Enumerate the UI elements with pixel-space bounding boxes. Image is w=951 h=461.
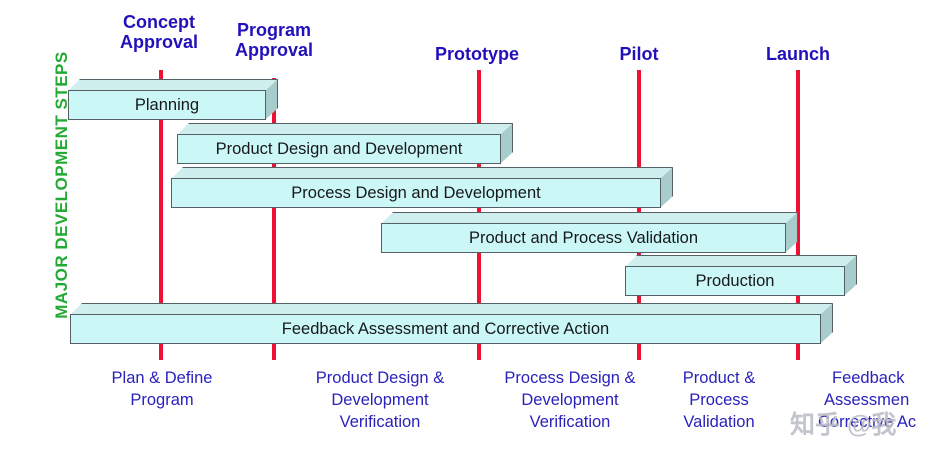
axis-caption-major-development-steps: MAJOR DEVELOPMENT STEPS (52, 25, 72, 345)
bottom-description-product-design-development-verification: Product Design & Development Verificatio… (295, 368, 465, 433)
phase-bar-product-design-and-development[interactable]: Product Design and Development (177, 123, 513, 164)
phase-bar-planning[interactable]: Planning (68, 79, 278, 120)
phase-bar-feedback-assessment-and-corrective-action[interactable]: Feedback Assessment and Corrective Actio… (70, 303, 833, 344)
phase-bar-feedback-label: Feedback Assessment and Corrective Actio… (276, 320, 615, 339)
phase-bar-product-design-front-face: Product Design and Development (177, 134, 501, 164)
phase-bar-production[interactable]: Production (625, 255, 857, 296)
bottom-description-col4-line1: Product & (655, 368, 783, 390)
bottom-description-col2-line3: Verification (295, 412, 465, 434)
bottom-description-plan-and-define-program: Plan & Define Program (87, 368, 237, 412)
milestone-label-program-approval-line1: Program (214, 20, 334, 40)
phase-bar-validation-front-face: Product and Process Validation (381, 223, 786, 253)
bottom-description-col5-line1: Feedback (832, 368, 951, 390)
bottom-description-product-process-validation: Product & Process Validation (655, 368, 783, 433)
phase-bar-planning-label: Planning (129, 96, 205, 115)
milestone-label-pilot: Pilot (579, 44, 699, 64)
bottom-description-col3-line3: Verification (485, 412, 655, 434)
phase-bar-validation-label: Product and Process Validation (463, 229, 704, 248)
bottom-description-col2-line1: Product Design & (295, 368, 465, 390)
milestone-label-launch-text: Launch (733, 44, 863, 64)
milestone-label-prototype-text: Prototype (407, 44, 547, 64)
bottom-description-feedback-assessment-corrective-action: Feedback Assessmen Corrective Ac (818, 368, 951, 433)
phase-bar-process-design-front-face: Process Design and Development (171, 178, 661, 208)
apqp-timeline-diagram: MAJOR DEVELOPMENT STEPS Concept Approval… (0, 0, 951, 461)
phase-bar-process-design-and-development[interactable]: Process Design and Development (171, 167, 673, 208)
milestone-label-launch: Launch (733, 44, 863, 64)
milestone-label-concept-approval-line1: Concept (99, 12, 219, 32)
bottom-description-col3-line2: Development (485, 390, 655, 412)
phase-bar-production-label: Production (690, 272, 781, 291)
bottom-description-col1-line1: Plan & Define (87, 368, 237, 390)
bottom-description-col4-line3: Validation (655, 412, 783, 434)
milestone-label-program-approval: Program Approval (214, 20, 334, 60)
milestone-label-pilot-text: Pilot (579, 44, 699, 64)
bottom-description-col1-line2: Program (87, 390, 237, 412)
phase-bar-production-front-face: Production (625, 266, 845, 296)
bottom-description-col4-line2: Process (655, 390, 783, 412)
phase-bar-product-and-process-validation[interactable]: Product and Process Validation (381, 212, 798, 253)
phase-bar-product-design-label: Product Design and Development (210, 140, 469, 159)
phase-bar-feedback-front-face: Feedback Assessment and Corrective Actio… (70, 314, 821, 344)
bottom-description-process-design-development-verification: Process Design & Development Verificatio… (485, 368, 655, 433)
milestone-label-concept-approval-line2: Approval (99, 32, 219, 52)
bottom-description-col5-line3: Corrective Ac (818, 412, 951, 434)
milestone-label-prototype: Prototype (407, 44, 547, 64)
bottom-description-col2-line2: Development (295, 390, 465, 412)
milestone-label-concept-approval: Concept Approval (99, 12, 219, 52)
bottom-description-col3-line1: Process Design & (485, 368, 655, 390)
phase-bar-process-design-label: Process Design and Development (285, 184, 546, 203)
phase-bar-planning-front-face: Planning (68, 90, 266, 120)
milestone-label-program-approval-line2: Approval (214, 40, 334, 60)
bottom-description-col5-line2: Assessmen (824, 390, 951, 412)
